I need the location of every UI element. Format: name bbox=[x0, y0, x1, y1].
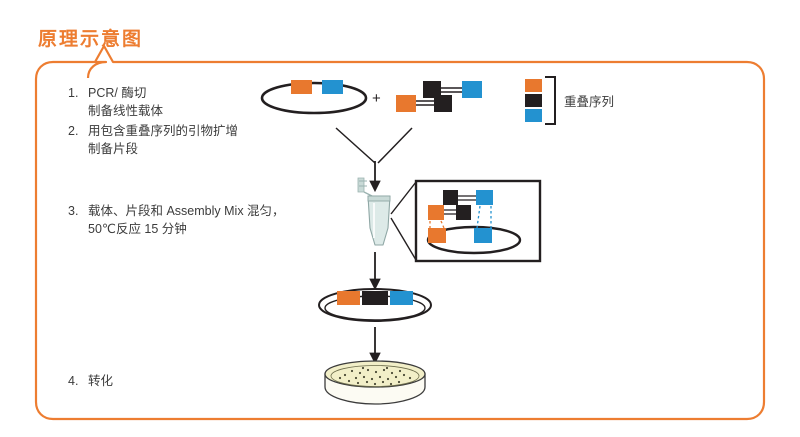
converging-arrows bbox=[336, 128, 412, 186]
schematic-diagram: + bbox=[0, 0, 800, 437]
inset-vector-block-blue bbox=[474, 228, 492, 243]
principle-diagram-page: 原理示意图 1. PCR/ 酶切 制备线性载体 2. 用包含重叠序列的引物扩增 … bbox=[0, 0, 800, 437]
plasmid-block-black bbox=[362, 291, 388, 305]
plus-sign: + bbox=[372, 90, 381, 107]
linear-vector bbox=[262, 80, 366, 113]
inset-box bbox=[416, 181, 540, 261]
fragment-1 bbox=[423, 81, 482, 98]
inset-vector-block-orange bbox=[428, 228, 446, 243]
petri-dish-icon bbox=[325, 361, 425, 404]
plasmid-block-orange bbox=[337, 291, 360, 305]
reaction-tube-icon bbox=[358, 178, 390, 245]
plasmid-block-blue bbox=[390, 291, 413, 305]
assembled-plasmid bbox=[319, 289, 431, 321]
inset-leader-lines bbox=[391, 182, 416, 260]
